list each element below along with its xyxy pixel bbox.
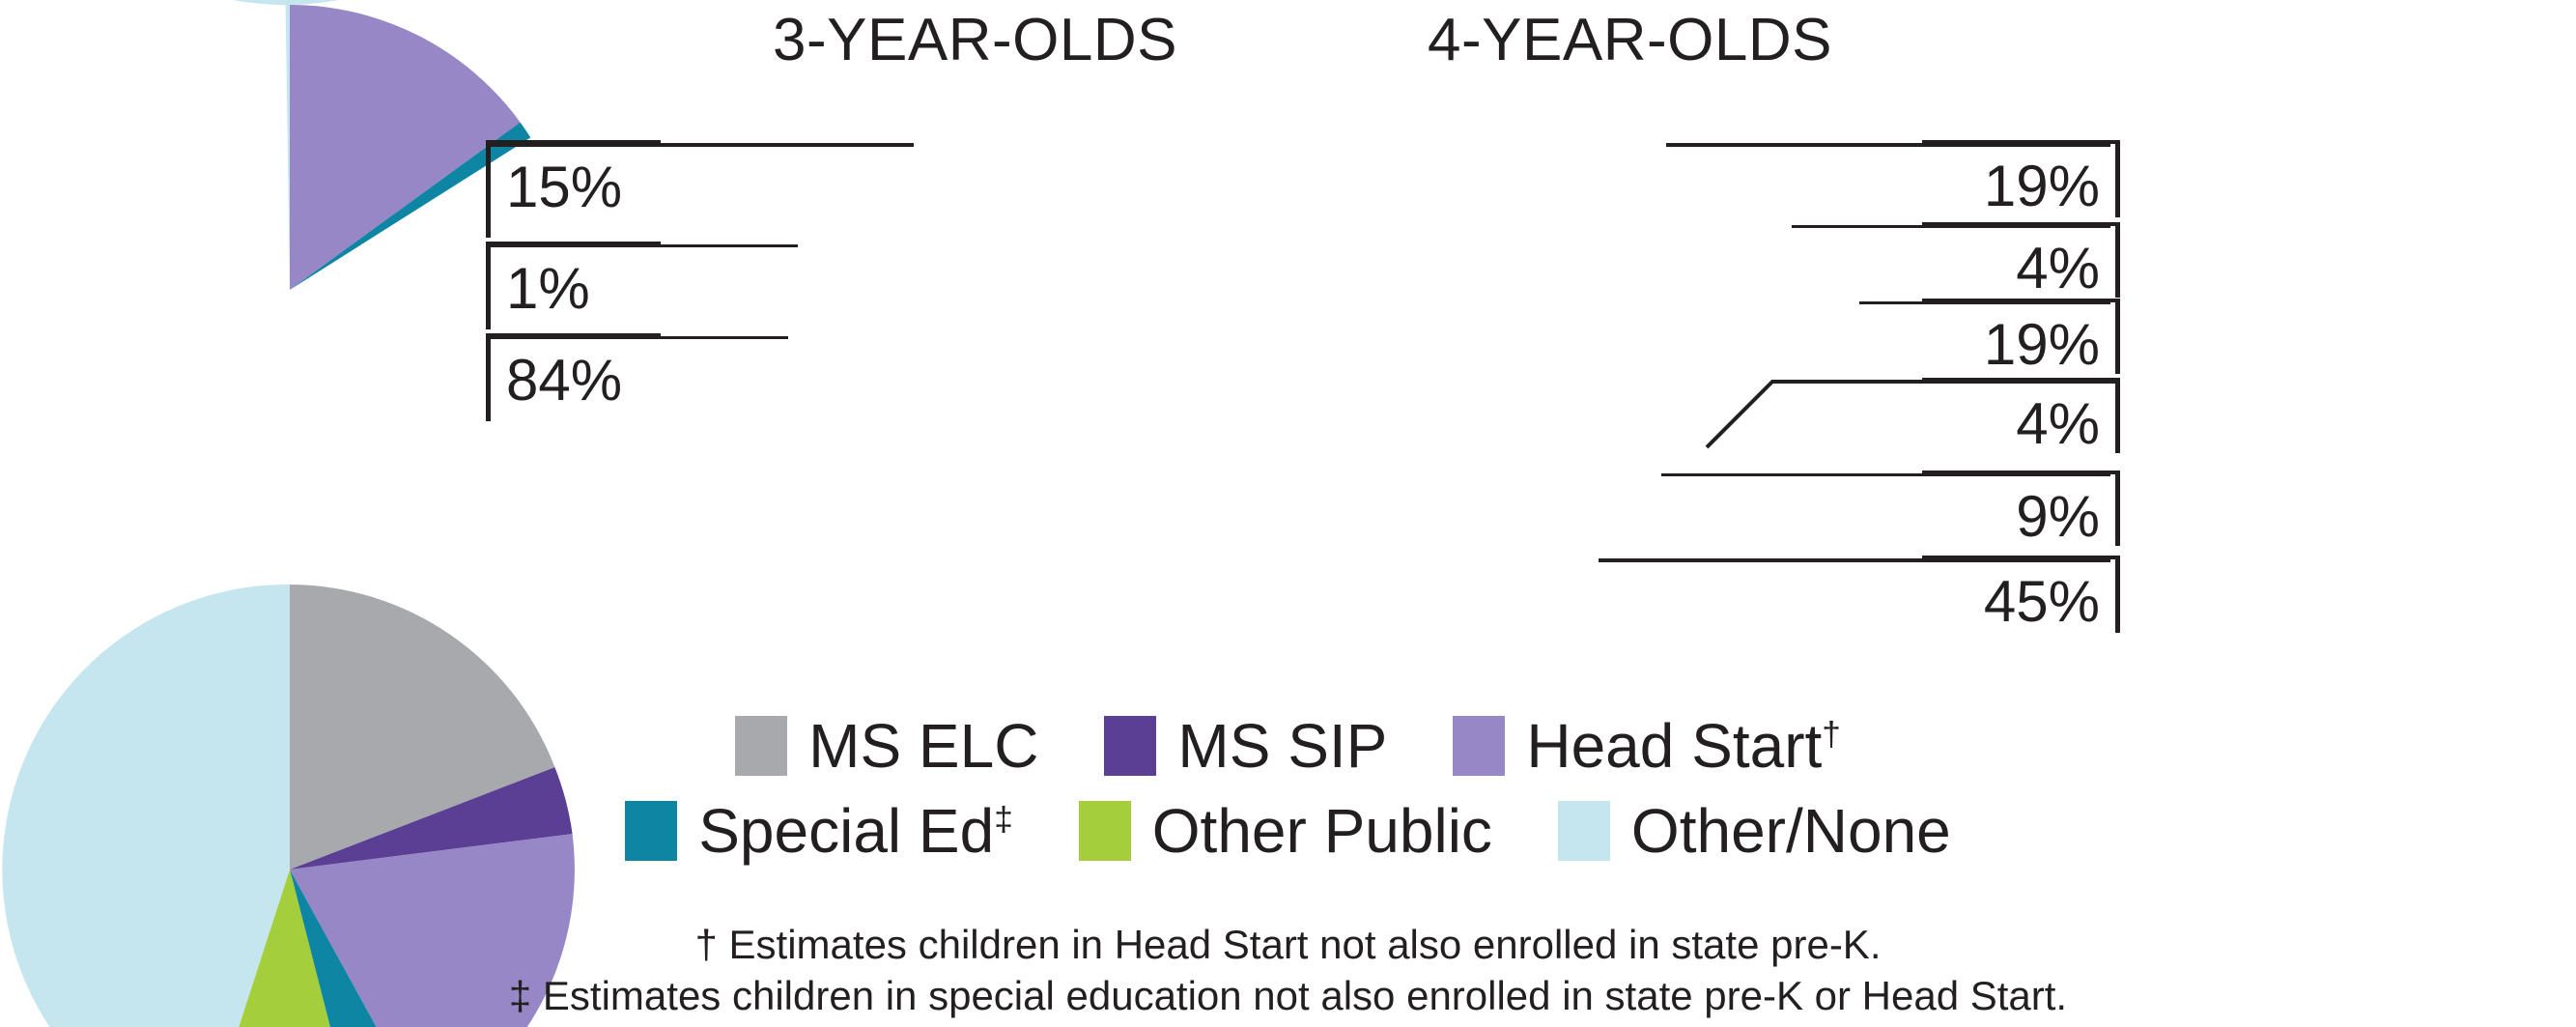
- callout-value: 84%: [491, 338, 661, 415]
- callout-84-percent: 84%: [486, 333, 661, 421]
- footnote-dagger: † Estimates children in Head Start not a…: [0, 920, 2576, 971]
- legend-item-ms-sip[interactable]: MS SIP: [1104, 715, 1387, 777]
- legend-label-other-public: Other Public: [1152, 800, 1492, 862]
- callout-19-percent-head-start: 19%: [1922, 299, 2120, 374]
- chart-legend: MS ELC MS SIP Head Start† Special Ed‡ Ot…: [0, 715, 2576, 862]
- callout-value: 19%: [1922, 144, 2115, 221]
- callout-value: 9%: [1922, 474, 2115, 552]
- callout-15-percent: 15%: [486, 140, 661, 238]
- callout-value: 4%: [1922, 226, 2115, 303]
- callout-19-percent-ms-elc: 19%: [1922, 140, 2120, 217]
- legend-swatch-other-none: [1558, 801, 1610, 861]
- callout-value: 19%: [1922, 302, 2115, 380]
- legend-item-other-public[interactable]: Other Public: [1079, 800, 1492, 862]
- legend-item-head-start[interactable]: Head Start†: [1453, 715, 1841, 777]
- legend-swatch-special-ed: [625, 801, 677, 861]
- legend-label-text: Head Start: [1526, 711, 1822, 781]
- footnote-marker-double-dagger: ‡: [994, 801, 1013, 839]
- legend-row-2: Special Ed‡ Other Public Other/None: [0, 800, 2576, 862]
- callout-4-percent-special-ed: 4%: [1922, 378, 2120, 453]
- legend-label-ms-sip: MS SIP: [1177, 715, 1387, 777]
- pie-chart-figure: 3-YEAR-OLDS 4-YEAR-OLDS 15% 1% 84%: [0, 0, 2576, 1027]
- callout-9-percent-other-public: 9%: [1922, 471, 2120, 546]
- legend-swatch-ms-elc: [735, 716, 787, 776]
- legend-label-other-none: Other/None: [1631, 800, 1951, 862]
- legend-swatch-head-start: [1453, 716, 1505, 776]
- callout-value: 4%: [1922, 382, 2115, 459]
- legend-label-special-ed: Special Ed‡: [698, 800, 1013, 862]
- callout-value: 45%: [1922, 559, 2115, 637]
- chart-title-4-year-olds: 4-YEAR-OLDS: [1428, 6, 1832, 74]
- legend-swatch-other-public: [1079, 801, 1131, 861]
- callout-4-percent-ms-sip: 4%: [1922, 222, 2120, 298]
- legend-swatch-ms-sip: [1104, 716, 1156, 776]
- callout-value: 15%: [491, 145, 661, 222]
- legend-item-special-ed[interactable]: Special Ed‡: [625, 800, 1013, 862]
- legend-label-ms-elc: MS ELC: [808, 715, 1038, 777]
- callout-45-percent-other-none: 45%: [1922, 556, 2120, 633]
- footnote-double-dagger: ‡ Estimates children in special educatio…: [0, 971, 2576, 1022]
- legend-label-head-start: Head Start†: [1526, 715, 1841, 777]
- legend-row-1: MS ELC MS SIP Head Start†: [0, 715, 2576, 777]
- callout-value: 1%: [491, 246, 661, 324]
- chart-footnotes: † Estimates children in Head Start not a…: [0, 920, 2576, 1021]
- legend-label-text: Special Ed: [698, 796, 994, 866]
- callout-1-percent: 1%: [486, 242, 661, 329]
- chart-title-3-year-olds: 3-YEAR-OLDS: [773, 6, 1177, 74]
- legend-item-other-none[interactable]: Other/None: [1558, 800, 1951, 862]
- legend-item-ms-elc[interactable]: MS ELC: [735, 715, 1038, 777]
- footnote-marker-dagger: †: [1822, 716, 1841, 754]
